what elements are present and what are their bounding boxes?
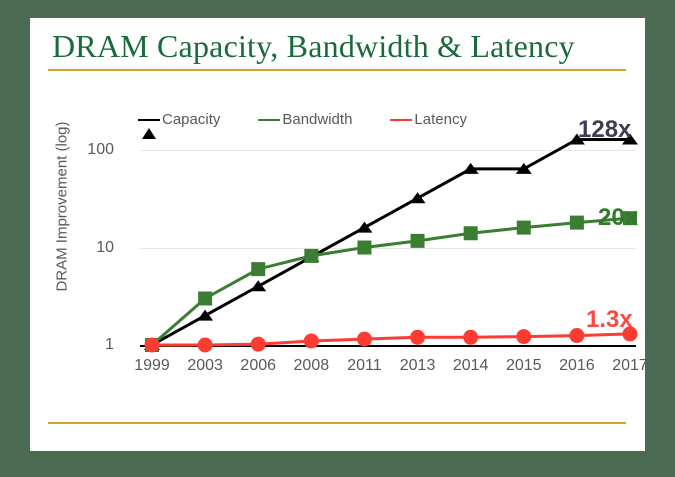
data-point-circle-marker	[357, 332, 372, 347]
data-point-square-marker	[304, 249, 318, 263]
data-point-circle-marker	[251, 337, 266, 352]
data-point-circle-marker	[304, 333, 319, 348]
data-point-square-marker	[464, 226, 478, 240]
series-line-bandwidth	[152, 218, 630, 345]
series-line-latency	[152, 334, 630, 345]
data-point-square-marker	[251, 262, 265, 276]
slide-card: DRAM Capacity, Bandwidth & Latency Capac…	[30, 18, 645, 451]
annotation-capacity: 128x	[578, 116, 631, 144]
annotation-latency: 1.3x	[586, 306, 633, 334]
annotation-bandwidth: 20x	[598, 204, 638, 232]
data-point-square-marker	[517, 221, 531, 235]
series-line-capacity	[152, 140, 630, 346]
data-point-circle-marker	[516, 329, 531, 344]
data-point-square-marker	[357, 241, 371, 255]
data-point-circle-marker	[569, 328, 584, 343]
data-point-circle-marker	[463, 330, 478, 345]
chart-plot-area: DRAM Improvement (log) 110100 1999200320…	[30, 18, 645, 451]
data-point-circle-marker	[198, 338, 213, 353]
data-point-circle-marker	[410, 330, 425, 345]
data-point-square-marker	[570, 216, 584, 230]
data-point-square-marker	[198, 291, 212, 305]
series-lines	[30, 18, 645, 451]
data-point-square-marker	[411, 234, 425, 248]
data-point-circle-marker	[145, 338, 160, 353]
